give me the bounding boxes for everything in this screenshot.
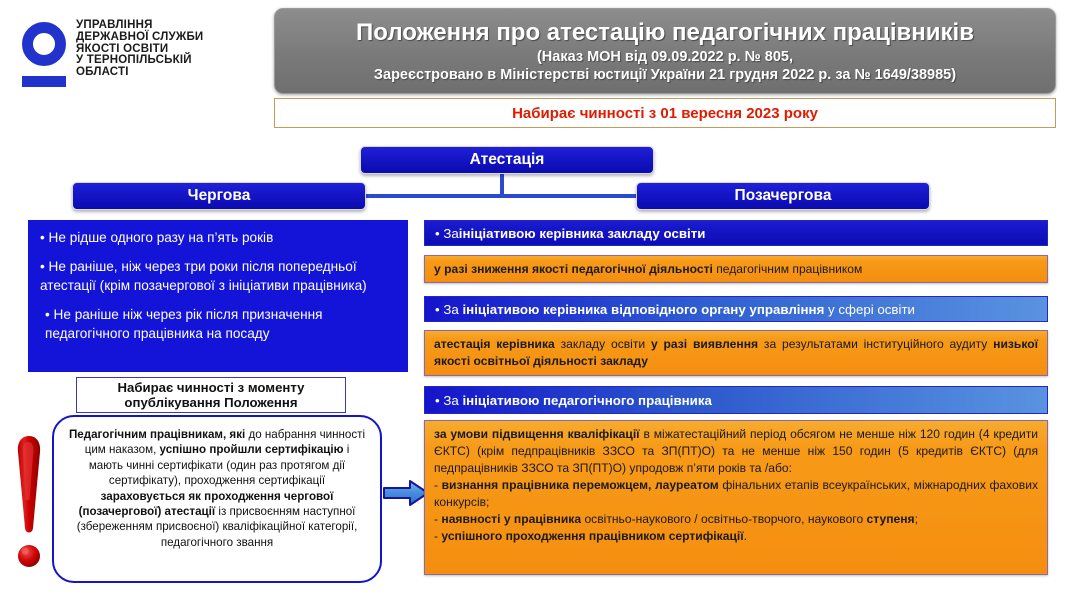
item-1-detail-text: педагогічним працівником [713,262,862,276]
flow-node-extraordinary: Позачергова [636,182,930,210]
item-3-paragraph: за умови підвищення кваліфікації в міжат… [434,426,1038,477]
item-3-dash-1: - визнання працівника переможцем, лауреа… [434,477,1038,511]
infographic-page: УПРАВЛІННЯ ДЕРЖАВНОЇ СЛУЖБИ ЯКОСТІ ОСВІТ… [0,0,1066,600]
item-2-detail-bold-2: у разі виявлення [651,337,758,351]
subtitle-line-2: Зареєстровано в Міністерстві юстиції Укр… [374,66,956,84]
flow-connector-horizontal [366,194,638,198]
item-2-detail-text-2: за результатами інституційного аудиту [758,337,993,351]
extraordinary-item-1-header: • За ініціативою керівника закладу освіт… [424,220,1048,246]
blue-right-arrow-icon [382,478,430,508]
flow-node-extraordinary-label: Позачергова [735,187,832,205]
flow-node-attestation-label: Атестація [470,151,545,169]
regular-bullet-2: • Не раніше, ніж через три роки після по… [40,257,398,296]
regular-bullet-1: • Не рідше одного разу на п’ять років [40,228,398,248]
regular-attestation-conditions: • Не рідше одного разу на п’ять років • … [28,220,408,372]
item-3-bullet: • За [435,393,462,408]
item-2-tail: у сфері освіти [824,302,915,317]
osvita-ring-logo-icon [18,22,70,88]
flow-node-regular: Чергова [72,182,366,210]
flow-node-attestation: Атестація [360,146,654,174]
item-2-bold: ініціативою керівника відповідного орган… [462,302,824,317]
note-bold-1: Педагогічним працівникам, які [69,428,245,441]
subtitle-line-1: (Наказ МОН від 09.09.2022 р. № 805, [374,48,956,66]
note-bold-2: успішно пройшли сертифікацію [160,443,344,456]
transition-note-heading-line-1: Набирає чинності з моменту [117,380,304,396]
item-3-dash-3-bold: успішного проходження працівником сертиф… [441,529,743,543]
page-title: Положення про атестацію педагогічних пра… [356,19,974,46]
transition-note-heading: Набирає чинності з моменту опублікування… [76,377,346,413]
item-1-bullet: • За [435,226,459,241]
regular-bullet-3: • Не раніше ніж через рік після призначе… [40,305,398,344]
item-3-dash-3-text: . [744,529,747,543]
extraordinary-item-2-header: • За ініціативою керівника відповідного … [424,296,1048,322]
item-2-detail-bold-1: атестація керівника [434,337,555,351]
item-3-dash-2-bold: наявності у працівника [441,512,581,526]
organization-logo-block: УПРАВЛІННЯ ДЕРЖАВНОЇ СЛУЖБИ ЯКОСТІ ОСВІТ… [10,18,260,98]
transition-note-heading-line-2: опублікування Положення [117,395,304,411]
item-3-dash-1-mark: - [434,478,442,492]
flow-connector-vertical [500,174,504,196]
flow-node-regular-label: Чергова [188,187,251,205]
item-2-detail-text-1: закладу освіти [555,337,651,351]
logo-line-2: ДЕРЖАВНОЇ СЛУЖБИ [76,32,256,44]
item-3-dash-1-bold: визнання працівника переможцем, лауреато… [442,478,719,492]
transition-note-body: Педагогічним працівникам, які до набранн… [52,415,382,583]
effective-date-banner: Набирає чинності з 01 вересня 2023 року [274,98,1056,128]
organization-name: УПРАВЛІННЯ ДЕРЖАВНОЇ СЛУЖБИ ЯКОСТІ ОСВІТ… [76,20,256,79]
item-3-dash-2-bold-2: ступеня [867,512,915,526]
extraordinary-item-3-header: • За ініціативою педагогічного працівник… [424,386,1048,414]
extraordinary-item-2-detail: атестація керівника закладу освіти у раз… [424,330,1048,376]
red-exclamation-icon [10,430,48,575]
document-subtitle: (Наказ МОН від 09.09.2022 р. № 805, Заре… [374,48,956,84]
item-3-dash-3: - успішного проходження працівником серт… [434,528,1038,545]
item-1-bold: ініціативою керівника закладу освіти [459,226,706,241]
effective-date-text: Набирає чинності з 01 вересня 2023 року [512,105,818,122]
item-2-bullet: • За [435,302,462,317]
logo-bar-shape [22,76,66,87]
item-3-dash-2: - наявності у працівника освітньо-науков… [434,511,1038,528]
extraordinary-item-1-detail: у разі зниження якості педагогічної діял… [424,255,1048,283]
item-3-dash-2-text: освітньо-наукового / освітньо-творчого, … [581,512,866,526]
item-3-bold-1: за умови підвищення кваліфікації [434,427,640,441]
logo-line-5: ОБЛАСТІ [76,67,256,79]
item-1-detail-bold: у разі зниження якості педагогічної діял… [434,262,713,276]
logo-ring-shape [22,22,66,66]
item-3-bold: ініціативою педагогічного працівника [462,393,711,408]
document-title-box: Положення про атестацію педагогічних пра… [274,8,1056,94]
item-3-dash-2-text-2: ; [915,512,918,526]
extraordinary-item-3-detail: за умови підвищення кваліфікації в міжат… [424,420,1048,575]
